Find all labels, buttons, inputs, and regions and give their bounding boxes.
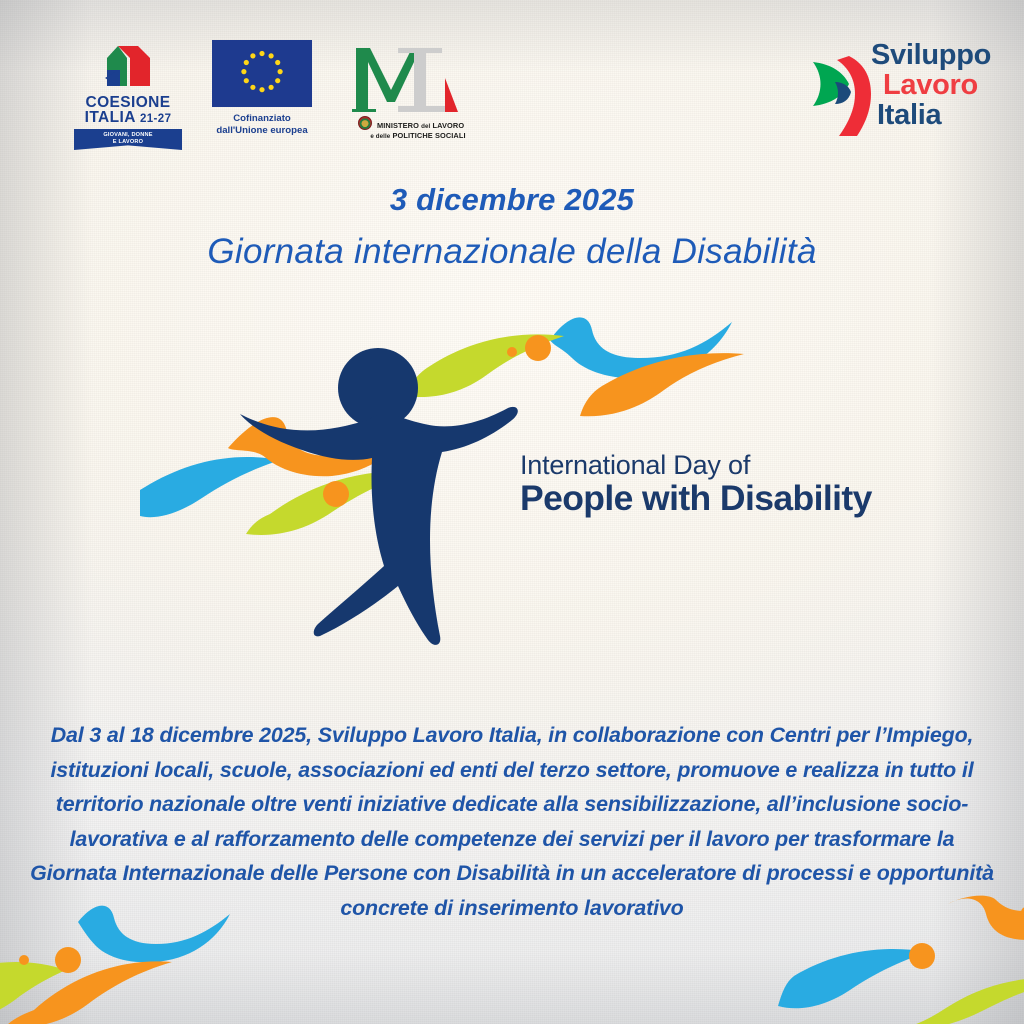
eu-stars-icon xyxy=(212,40,312,107)
idpd-wordmark: International Day of People with Disabil… xyxy=(520,450,872,519)
sli-label-line2: Lavoro xyxy=(871,70,1004,100)
corner-decoration-right xyxy=(738,894,1024,1024)
logo-ministero-lavoro: MINISTERO del LAVORO e delle POLITICHE S… xyxy=(336,34,486,141)
sli-label-line3: Italia xyxy=(871,100,1004,130)
sli-swoosh-icon xyxy=(809,42,879,142)
republic-emblem-icon xyxy=(358,116,372,130)
ribbon-cyan-corner-right xyxy=(778,949,928,1008)
eu-flag-icon xyxy=(212,40,312,107)
coesione-label-line1: COESIONE xyxy=(74,96,182,110)
dot-orange-large-left xyxy=(323,481,349,507)
corner-ribbons-left xyxy=(0,900,290,1024)
heading-block: 3 dicembre 2025 Giornata internazionale … xyxy=(0,182,1024,272)
page-title: Giornata internazionale della Disabilità xyxy=(0,232,1024,272)
dot-orange-large-corner-left xyxy=(55,947,81,973)
coesione-mark-icon xyxy=(74,42,182,96)
idpd-line2: People with Disability xyxy=(520,478,872,519)
ministero-caption-line2b: POLITICHE SOCIALI xyxy=(392,131,465,140)
corner-ribbons-right xyxy=(738,894,1024,1024)
dot-orange-small-corner-left xyxy=(19,955,29,965)
logo-coesione-italia: COESIONE ITALIA 21-27 GIOVANI, DONNE E L… xyxy=(74,42,182,150)
idpd-line1: International Day of xyxy=(520,450,872,481)
ribbon-cyan-corner-left xyxy=(78,906,230,963)
dot-orange-large-corner-right xyxy=(909,943,935,969)
logo-european-union: Cofinanziato dall'Unione europea xyxy=(210,40,314,137)
event-date: 3 dicembre 2025 xyxy=(0,182,1024,218)
coesione-years: 21-27 xyxy=(140,113,171,125)
ribbon-orange-corner-right xyxy=(948,896,1024,940)
coesione-arrow-icon xyxy=(74,42,182,96)
corner-decoration-left xyxy=(0,900,290,1024)
sli-label-line1: Sviluppo xyxy=(871,40,1004,70)
ministero-caption-line2a: e delle xyxy=(370,133,390,140)
logo-sviluppo-lavoro-italia: Sviluppo Lavoro Italia xyxy=(809,34,1004,130)
ribbon-cyan-left xyxy=(140,457,280,517)
coesione-label-line2: ITALIA xyxy=(85,109,136,126)
coesione-ribbon-line2: E LAVORO xyxy=(76,139,180,146)
ribbon-lime-corner-right xyxy=(894,978,1024,1024)
coesione-ribbon-line1: GIOVANI, DONNE xyxy=(76,132,180,139)
poster-canvas: COESIONE ITALIA 21-27 GIOVANI, DONNE E L… xyxy=(0,0,1024,1024)
logo-bar: COESIONE ITALIA 21-27 GIOVANI, DONNE E L… xyxy=(0,34,1024,146)
person-silhouette-icon xyxy=(240,348,518,645)
dot-orange-large-top xyxy=(525,335,551,361)
ministero-caption-line1: MINISTERO del LAVORO xyxy=(377,121,464,130)
ml-monogram-icon xyxy=(346,34,476,120)
dot-orange-small-top xyxy=(507,347,517,357)
coesione-ribbon: GIOVANI, DONNE E LAVORO xyxy=(74,129,182,150)
eu-caption-line1: Cofinanziato xyxy=(210,113,314,125)
eu-caption-line2: dall'Unione europea xyxy=(210,125,314,137)
